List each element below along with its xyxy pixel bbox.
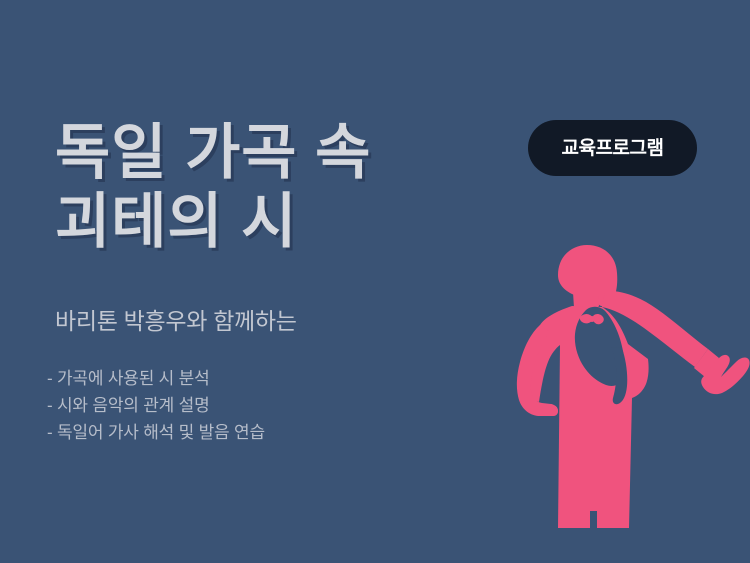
- title-line-2: 괴테의 시: [55, 187, 485, 256]
- page-title: 독일 가곡 속 괴테의 시: [55, 118, 485, 256]
- list-item: - 시와 음악의 관계 설명: [47, 392, 467, 419]
- title-line-1: 독일 가곡 속: [55, 118, 485, 187]
- list-item: - 독일어 가사 해석 및 발음 연습: [47, 419, 467, 446]
- status-badge-label: 교육프로그램: [562, 139, 664, 158]
- status-badge: 교육프로그램: [528, 120, 697, 176]
- poster-slide: 교육프로그램 독일 가곡 속 괴테의 시 바리톤 박흥우와 함께하는 - 가곡에…: [0, 0, 750, 563]
- detail-list: - 가곡에 사용된 시 분석 - 시와 음악의 관계 설명 - 독일어 가사 해…: [47, 365, 467, 446]
- singer-silhouette-graphic: [498, 228, 750, 528]
- subtitle: 바리톤 박흥우와 함께하는: [55, 305, 297, 337]
- singer-silhouette-icon: [498, 228, 750, 528]
- list-item: - 가곡에 사용된 시 분석: [47, 365, 467, 392]
